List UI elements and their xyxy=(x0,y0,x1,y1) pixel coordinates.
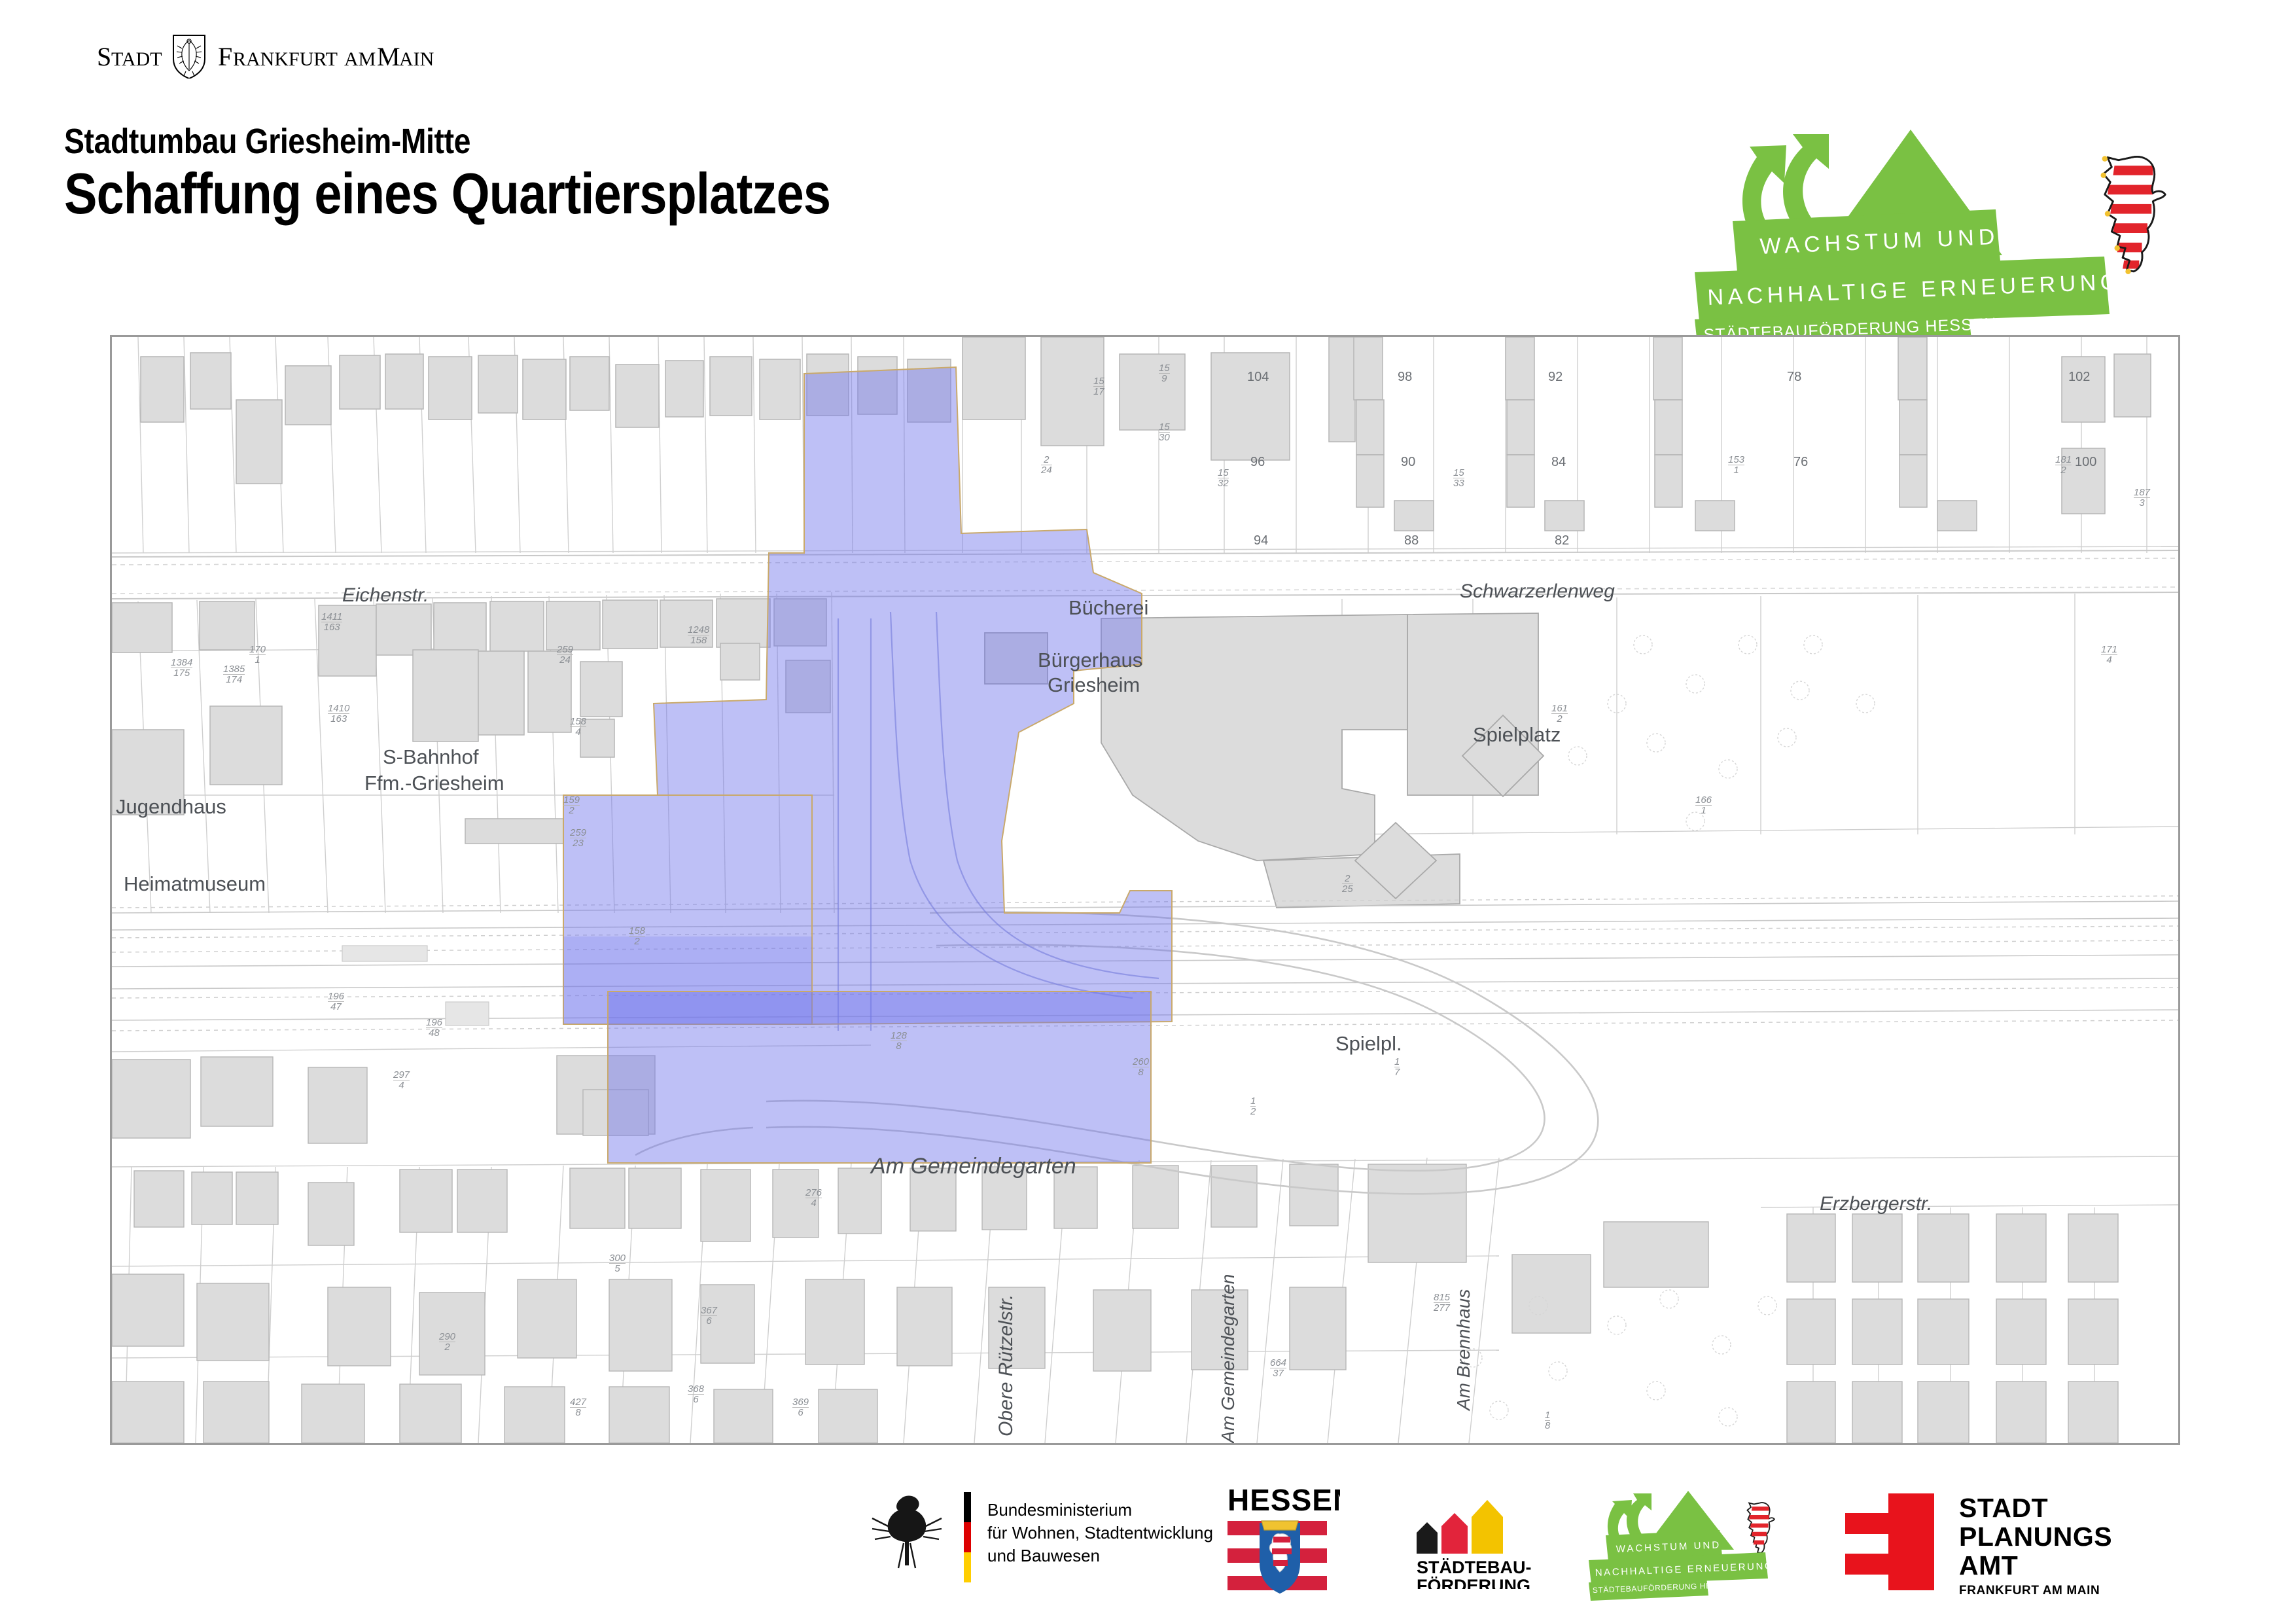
poi-spielpl: Spielpl. xyxy=(1335,1032,1402,1056)
parcel-number: 2764 xyxy=(805,1188,822,1209)
svg-text:RANKFURT: RANKFURT xyxy=(233,48,338,70)
footer-logo-bar: Bundesministerium für Wohnen, Stadtentwi… xyxy=(0,1472,2296,1603)
parcel-number: 1661 xyxy=(1695,795,1712,816)
parcel-number: 1812 xyxy=(2055,455,2072,476)
parcel-number: 25923 xyxy=(570,828,586,849)
map-vector-canvas xyxy=(112,337,2178,1443)
parcel-number: 2974 xyxy=(393,1070,410,1091)
spa-line2: PLANUNGS xyxy=(1959,1522,2112,1552)
spa-line1: STADT xyxy=(1959,1493,2048,1523)
house-number: 94 xyxy=(1254,533,1268,548)
page-title: Schaffung eines Quartiersplatzes xyxy=(64,160,830,227)
hessen-wordmark: HESSEN xyxy=(1227,1483,1340,1517)
street-label-eichenstr: Eichenstr. xyxy=(342,584,429,607)
poi-ffm-griesheim: Ffm.-Griesheim xyxy=(364,772,504,795)
parcel-number: 18 xyxy=(1545,1410,1550,1431)
parcel-number: 1592 xyxy=(563,795,580,816)
city-of-frankfurt-logo: S TADT F RANKFURT AM M AIN xyxy=(97,31,516,77)
parcel-number: 1701 xyxy=(249,645,266,666)
parcel-number: 815277 xyxy=(1434,1293,1450,1313)
street-label-schwarzerlenweg: Schwarzerlenweg xyxy=(1460,580,1615,603)
parcel-number: 1384175 xyxy=(171,658,192,679)
parcel-number: 1531 xyxy=(1728,455,1744,476)
house-number: 76 xyxy=(1793,455,1808,470)
house-number: 96 xyxy=(1250,455,1265,470)
poi-heimatmuseum: Heimatmuseum xyxy=(124,872,266,896)
poi-buecherei: Bücherei xyxy=(1069,596,1148,620)
parcel-number: 3005 xyxy=(609,1253,626,1274)
svg-text:TADT: TADT xyxy=(111,48,162,70)
parcel-number: 66437 xyxy=(1270,1358,1286,1379)
parcel-number: 1582 xyxy=(629,926,645,947)
street-label-am-brennhaus: Am Brennhaus xyxy=(1453,1289,1474,1410)
hessen-lion-icon-small xyxy=(1747,1503,1774,1553)
spa-line3: AMT xyxy=(1959,1550,2018,1580)
parcel-number: 159 xyxy=(1159,363,1170,384)
bmwsb-logo: Bundesministerium für Wohnen, Stadtentwi… xyxy=(867,1487,1233,1588)
parcel-number: 2608 xyxy=(1133,1057,1149,1078)
hessen-logo: HESSEN xyxy=(1222,1480,1340,1601)
cadastral-map[interactable]: Eichenstr. Schwarzerlenweg Erzbergerstr.… xyxy=(110,335,2180,1445)
federal-eagle-icon xyxy=(872,1496,942,1569)
parcel-number: 225 xyxy=(1342,874,1353,895)
parcel-number: 1248158 xyxy=(688,625,709,646)
flag-gold xyxy=(964,1552,971,1582)
parcel-number: 1714 xyxy=(2101,645,2117,666)
three-houses-icon xyxy=(1417,1500,1503,1554)
parcel-number: 2902 xyxy=(439,1332,455,1353)
poi-buergerhaus: Bürgerhaus xyxy=(1038,649,1142,672)
frankfurt-wordmark-svg: S TADT F RANKFURT AM M AIN xyxy=(97,31,516,79)
street-label-obere-ruetzelstr: Obere Rützelstr. xyxy=(995,1294,1017,1436)
poi-s-bahnhof: S-Bahnhof xyxy=(383,745,479,769)
parcel-number: 4278 xyxy=(570,1397,586,1418)
parcel-number: 12 xyxy=(1250,1096,1256,1117)
bmwsb-line2: für Wohnen, Stadtentwicklung xyxy=(987,1523,1213,1543)
parcel-number: 25924 xyxy=(557,645,573,666)
parcel-number: 3676 xyxy=(701,1306,717,1327)
poi-spielplatz: Spielplatz xyxy=(1473,723,1561,747)
parcel-number: 17 xyxy=(1394,1057,1400,1078)
house-number: 92 xyxy=(1548,370,1563,385)
house-number: 104 xyxy=(1247,370,1269,385)
house-number: 82 xyxy=(1555,533,1569,548)
quartiersplatz-highlight-area xyxy=(563,367,1172,1163)
spa-sub: FRANKFURT AM MAIN xyxy=(1959,1584,2100,1597)
svg-text:AIN: AIN xyxy=(399,48,434,70)
project-subtitle: Stadtumbau Griesheim-Mitte xyxy=(64,121,470,162)
street-label-am-gemeindegarten-2: Am Gemeindegarten xyxy=(1218,1274,1239,1443)
hessen-shield-icon xyxy=(1260,1521,1299,1593)
bmwsb-line1: Bundesministerium xyxy=(987,1500,1132,1520)
parcel-number: 1411163 xyxy=(321,612,342,633)
poi-jugendhaus: Jugendhaus xyxy=(116,795,226,819)
parcel-number: 19647 xyxy=(328,991,344,1012)
svg-text:M: M xyxy=(377,42,400,71)
svg-text:S: S xyxy=(97,42,111,71)
parcel-number: 1584 xyxy=(570,717,586,738)
parcel-number: 1385174 xyxy=(223,664,245,685)
parcel-number: 1612 xyxy=(1551,704,1568,724)
parcel-number: 1873 xyxy=(2134,488,2150,508)
bmwsb-line3: und Bauwesen xyxy=(987,1546,1100,1565)
parcel-number: 1533 xyxy=(1453,468,1464,489)
house-number: 78 xyxy=(1787,370,1801,385)
house-number: 84 xyxy=(1551,455,1566,470)
flag-black xyxy=(964,1492,971,1522)
house-number: 102 xyxy=(2068,370,2090,385)
hessen-lion-icon xyxy=(2101,156,2166,274)
stadtplanungsamt-mark-icon xyxy=(1845,1493,1934,1590)
svg-text:AM: AM xyxy=(344,48,376,70)
parcel-number: 1532 xyxy=(1218,468,1229,489)
flag-red xyxy=(964,1522,971,1552)
parcel-number: 1517 xyxy=(1093,376,1104,397)
street-label-am-gemeindegarten: Am Gemeindegarten xyxy=(871,1154,1076,1179)
parcel-number: 1410163 xyxy=(328,704,349,724)
parcel-number: 19648 xyxy=(426,1018,442,1039)
street-label-erzbergerstr: Erzbergerstr. xyxy=(1820,1193,1932,1215)
house-number: 98 xyxy=(1398,370,1412,385)
stadtplanungsamt-logo: STADT PLANUNGS AMT FRANKFURT AM MAIN xyxy=(1839,1486,2179,1600)
house-number: 100 xyxy=(2075,455,2096,470)
parcel-number: 3686 xyxy=(688,1384,704,1405)
parcel-number: 1530 xyxy=(1159,422,1170,443)
parcel-number: 1288 xyxy=(891,1031,907,1052)
parcel-number: 3696 xyxy=(792,1397,809,1418)
staedtebaufoerderung-logo: STÄDTEBAU- FÖRDERUNG von Bund, Ländern u… xyxy=(1410,1491,1593,1592)
svg-text:F: F xyxy=(218,42,232,71)
parcel-number: 224 xyxy=(1041,455,1052,476)
poi-griesheim: Griesheim xyxy=(1048,673,1140,697)
program-logo-footer: WACHSTUM UND NACHHALTIGE ERNEUERUNG STÄD… xyxy=(1589,1488,1805,1609)
staedtebau-line2: FÖRDERUNG xyxy=(1417,1576,1530,1589)
house-number: 90 xyxy=(1401,455,1415,470)
staedtebau-line1: STÄDTEBAU- xyxy=(1417,1558,1532,1577)
house-number: 88 xyxy=(1404,533,1419,548)
